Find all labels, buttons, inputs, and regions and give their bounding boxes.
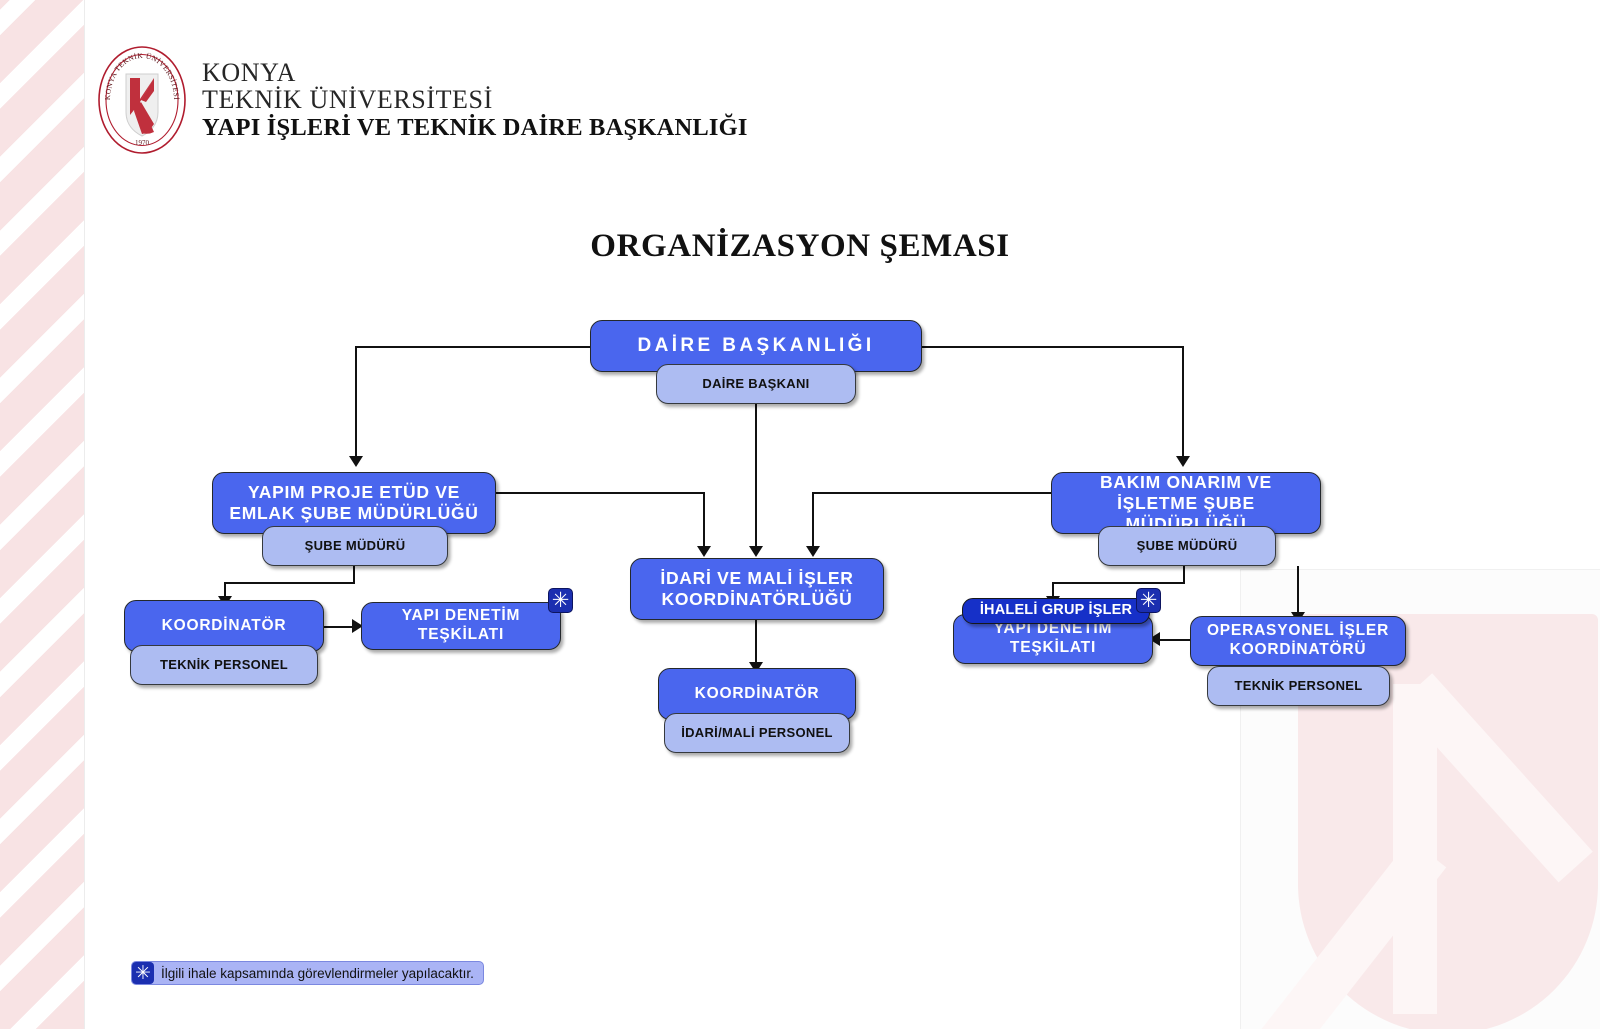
node-koordinator-center-label: KOORDİNATÖR <box>695 685 820 704</box>
node-bakim-onarim-sube-muduru[interactable]: ŞUBE MÜDÜRÜ <box>1098 526 1276 566</box>
node-koordinator-left-label: KOORDİNATÖR <box>162 617 287 636</box>
node-idari-mali-label: İDARİ VE MALİ İŞLER KOORDİNATÖRLÜĞÜ <box>639 568 875 610</box>
star-glyph: ✳ <box>135 964 151 983</box>
connector-yapim-to-idari-horizontal <box>495 492 705 494</box>
node-teknik-personel-left[interactable]: TEKNİK PERSONEL <box>130 645 318 685</box>
connector-db-right-horizontal <box>920 346 1184 348</box>
node-yapim-proje-etud-emlak[interactable]: YAPIM PROJE ETÜD VE EMLAK ŞUBE MÜDÜRLÜĞÜ <box>212 472 496 534</box>
page-title: ORGANİZASYON ŞEMASI <box>0 228 1600 265</box>
connector-db-center-vertical <box>755 404 757 548</box>
brand-line-1: KONYA <box>202 59 748 86</box>
connector-bakim-sub-horizontal <box>1052 582 1185 584</box>
node-bakim-onarim-isletme[interactable]: BAKIM ONARIM VE İŞLETME ŞUBE MÜDÜRLÜĞÜ <box>1051 472 1321 534</box>
node-yapi-denetim-left-label: YAPI DENETİM TEŞKİLATI <box>370 607 552 644</box>
star-icon: ✳ <box>552 590 570 611</box>
arrow-db-to-idari <box>749 546 763 557</box>
brand-titles: KONYA TEKNİK ÜNİVERSİTESİ YAPI İŞLERİ VE… <box>202 59 748 141</box>
arrow-to-bakim-onarim <box>1176 456 1190 467</box>
university-seal-logo: KONYA TEKNİK ÜNİVERSİTESİ 1970 <box>96 44 188 156</box>
brand-line-2: TEKNİK ÜNİVERSİTESİ <box>202 86 748 113</box>
node-daire-baskani-label: DAİRE BAŞKANI <box>702 376 809 392</box>
connector-bakim-to-idari-horizontal <box>812 492 1056 494</box>
arrow-yapim-to-idari <box>697 546 711 557</box>
connector-idari-to-koordinator <box>755 620 757 664</box>
organization-chart-slide: KONYA TEKNİK ÜNİVERSİTESİ 1970 KONYA TEK… <box>0 0 1600 1029</box>
node-ihaleli-grup-isler-label: İHALELİ GRUP İŞLER <box>980 602 1132 619</box>
node-yapim-proje-sube-muduru[interactable]: ŞUBE MÜDÜRÜ <box>262 526 448 566</box>
connector-db-left-vertical <box>355 346 357 458</box>
node-yapim-proje-label: YAPIM PROJE ETÜD VE EMLAK ŞUBE MÜDÜRLÜĞÜ <box>221 482 487 524</box>
footnote-legend: ✳ İlgili ihale kapsamında görevlendirmel… <box>131 961 484 985</box>
connector-yapim-to-idari-vertical <box>703 492 705 548</box>
footnote-text: İlgili ihale kapsamında görevlendirmeler… <box>161 966 474 981</box>
node-idari-mali-personel-label: İDARİ/MALİ PERSONEL <box>681 725 833 741</box>
node-idari-mali-isler-koordinatorlugu[interactable]: İDARİ VE MALİ İŞLER KOORDİNATÖRLÜĞÜ <box>630 558 884 620</box>
svg-text:1970: 1970 <box>135 139 150 147</box>
stripe-band-edge <box>84 0 85 1029</box>
node-yapim-proje-sub-label: ŞUBE MÜDÜRÜ <box>305 538 406 554</box>
connector-db-right-vertical <box>1182 346 1184 458</box>
connector-yapim-sub-horizontal <box>224 582 355 584</box>
node-operasyonel-label: OPERASYONEL İŞLER KOORDİNATÖRÜ <box>1199 622 1397 659</box>
connector-bakim-to-idari-vertical <box>812 492 814 548</box>
node-idari-mali-personel[interactable]: İDARİ/MALİ PERSONEL <box>664 713 850 753</box>
arrow-to-yapim-proje <box>349 456 363 467</box>
node-teknik-personel-right[interactable]: TEKNİK PERSONEL <box>1207 666 1390 706</box>
node-teknik-personel-right-label: TEKNİK PERSONEL <box>1234 678 1362 694</box>
star-badge-ihaleli-grup[interactable]: ✳ <box>1136 588 1161 613</box>
node-operasyonel-isler-koordinatoru[interactable]: OPERASYONEL İŞLER KOORDİNATÖRÜ <box>1190 616 1406 666</box>
connector-operasyonel-to-yapidenetim <box>1160 639 1192 641</box>
node-teknik-personel-left-label: TEKNİK PERSONEL <box>160 657 288 673</box>
node-bakim-onarim-sub-label: ŞUBE MÜDÜRÜ <box>1137 538 1238 554</box>
brand-header: KONYA TEKNİK ÜNİVERSİTESİ 1970 KONYA TEK… <box>96 44 748 156</box>
star-icon: ✳ <box>1140 590 1158 611</box>
node-daire-baskanligi-label: DAİRE BAŞKANLIĞI <box>637 335 874 358</box>
node-ihaleli-grup-isler[interactable]: İHALELİ GRUP İŞLER <box>962 598 1150 624</box>
seal-svg: KONYA TEKNİK ÜNİVERSİTESİ 1970 <box>96 44 188 156</box>
star-badge-yapi-denetim-left[interactable]: ✳ <box>548 588 573 613</box>
brand-line-3: YAPI İŞLERİ VE TEKNİK DAİRE BAŞKANLIĞI <box>202 115 748 140</box>
footnote-star-icon: ✳ <box>132 962 154 984</box>
connector-bakim-to-operasyonel <box>1297 566 1299 614</box>
decorative-stripe-band <box>0 0 84 1029</box>
connector-db-left-horizontal <box>355 346 595 348</box>
node-yapi-denetim-right-label: YAPI DENETİM TEŞKİLATI <box>962 620 1144 657</box>
node-daire-baskani[interactable]: DAİRE BAŞKANI <box>656 364 856 404</box>
node-yapi-denetim-teskilati-left[interactable]: YAPI DENETİM TEŞKİLATI <box>361 602 561 650</box>
arrow-bakim-to-idari <box>806 546 820 557</box>
